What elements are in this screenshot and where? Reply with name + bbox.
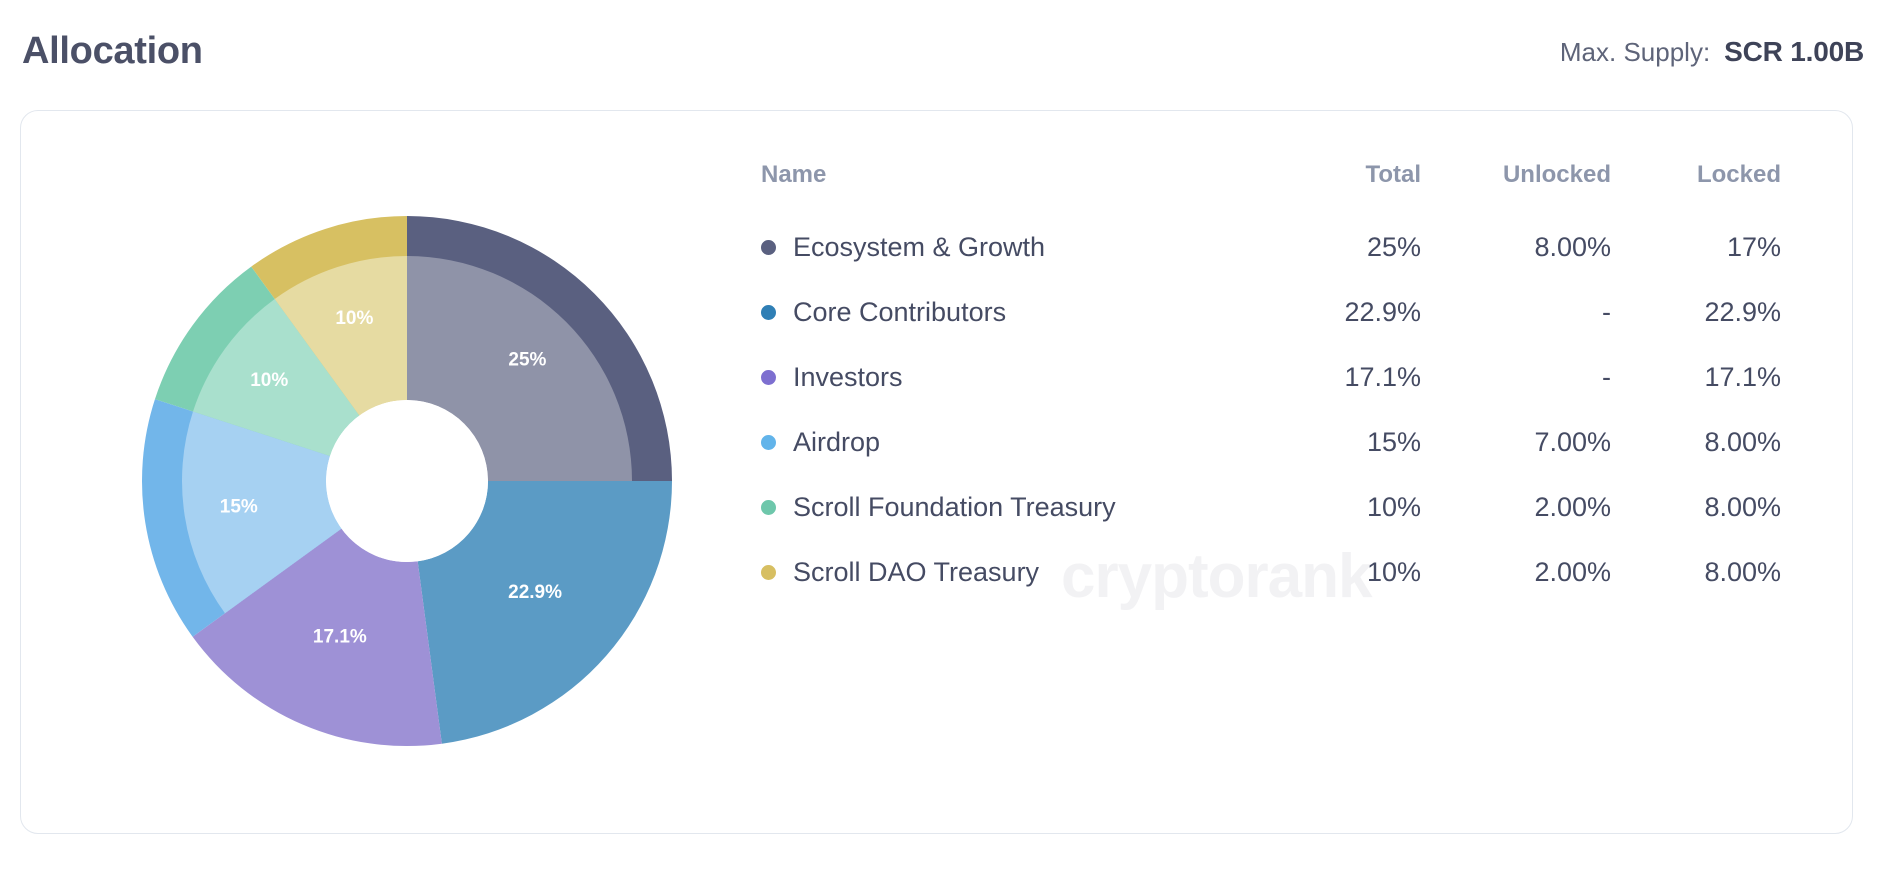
donut-slice-label: 10% bbox=[335, 308, 373, 329]
cell-total: 22.9% bbox=[1241, 280, 1421, 345]
cell-locked: 8.00% bbox=[1611, 540, 1781, 605]
cell-total: 25% bbox=[1241, 215, 1421, 280]
cell-name: Scroll DAO Treasury bbox=[761, 540, 1241, 605]
name-cell: Ecosystem & Growth bbox=[761, 233, 1241, 263]
cell-total: 10% bbox=[1241, 540, 1421, 605]
name-cell: Airdrop bbox=[761, 428, 1241, 458]
column-header-unlocked[interactable]: Unlocked bbox=[1421, 161, 1611, 215]
max-supply: Max. Supply: SCR 1.00B bbox=[1560, 28, 1870, 68]
cell-name: Airdrop bbox=[761, 410, 1241, 475]
allocation-name: Core Contributors bbox=[793, 298, 1006, 328]
allocation-table: Name Total Unlocked Locked Ecosystem & G… bbox=[761, 161, 1781, 605]
table-body: Ecosystem & Growth25%8.00%17%Core Contri… bbox=[761, 215, 1781, 605]
column-header-total[interactable]: Total bbox=[1241, 161, 1421, 215]
allocation-page: Allocation Max. Supply: SCR 1.00B crypto… bbox=[0, 0, 1892, 874]
cell-total: 10% bbox=[1241, 475, 1421, 540]
column-header-locked[interactable]: Locked bbox=[1611, 161, 1781, 215]
table-row[interactable]: Ecosystem & Growth25%8.00%17% bbox=[761, 215, 1781, 280]
cell-unlocked: - bbox=[1421, 345, 1611, 410]
donut-hole bbox=[326, 400, 488, 562]
table-row[interactable]: Scroll Foundation Treasury10%2.00%8.00% bbox=[761, 475, 1781, 540]
name-cell: Investors bbox=[761, 363, 1241, 393]
cell-unlocked: - bbox=[1421, 280, 1611, 345]
cell-unlocked: 2.00% bbox=[1421, 475, 1611, 540]
allocation-name: Ecosystem & Growth bbox=[793, 233, 1045, 263]
cell-unlocked: 2.00% bbox=[1421, 540, 1611, 605]
table-row[interactable]: Core Contributors22.9%-22.9% bbox=[761, 280, 1781, 345]
donut-slice-label: 15% bbox=[220, 497, 258, 518]
name-cell: Scroll DAO Treasury bbox=[761, 558, 1241, 588]
donut-slice-label: 22.9% bbox=[508, 582, 562, 603]
cell-total: 15% bbox=[1241, 410, 1421, 475]
max-supply-value: SCR 1.00B bbox=[1724, 36, 1864, 68]
allocation-name: Airdrop bbox=[793, 428, 880, 458]
table-row[interactable]: Investors17.1%-17.1% bbox=[761, 345, 1781, 410]
legend-dot-icon bbox=[761, 500, 776, 515]
table-row[interactable]: Airdrop15%7.00%8.00% bbox=[761, 410, 1781, 475]
donut-slice-label: 17.1% bbox=[313, 627, 367, 648]
allocation-name: Scroll Foundation Treasury bbox=[793, 493, 1116, 523]
cell-name: Ecosystem & Growth bbox=[761, 215, 1241, 280]
legend-dot-icon bbox=[761, 305, 776, 320]
table-header-row: Name Total Unlocked Locked bbox=[761, 161, 1781, 215]
page-header: Allocation Max. Supply: SCR 1.00B bbox=[0, 0, 1892, 96]
donut-slice-label: 10% bbox=[250, 370, 288, 391]
max-supply-label: Max. Supply: bbox=[1560, 37, 1710, 68]
cell-name: Core Contributors bbox=[761, 280, 1241, 345]
allocation-name: Scroll DAO Treasury bbox=[793, 558, 1039, 588]
cell-locked: 8.00% bbox=[1611, 410, 1781, 475]
legend-dot-icon bbox=[761, 370, 776, 385]
donut-svg: 25%22.9%17.1%15%10%10% bbox=[121, 201, 701, 761]
cell-unlocked: 7.00% bbox=[1421, 410, 1611, 475]
cell-unlocked: 8.00% bbox=[1421, 215, 1611, 280]
allocation-name: Investors bbox=[793, 363, 903, 393]
table-header: Name Total Unlocked Locked bbox=[761, 161, 1781, 215]
cell-name: Scroll Foundation Treasury bbox=[761, 475, 1241, 540]
donut-slice-label: 25% bbox=[508, 350, 546, 371]
cell-locked: 22.9% bbox=[1611, 280, 1781, 345]
name-cell: Core Contributors bbox=[761, 298, 1241, 328]
table-row[interactable]: Scroll DAO Treasury10%2.00%8.00% bbox=[761, 540, 1781, 605]
allocation-table-wrap: Name Total Unlocked Locked Ecosystem & G… bbox=[761, 161, 1781, 605]
allocation-donut-chart: 25%22.9%17.1%15%10%10% bbox=[121, 201, 701, 761]
cell-locked: 17.1% bbox=[1611, 345, 1781, 410]
name-cell: Scroll Foundation Treasury bbox=[761, 493, 1241, 523]
allocation-card: cryptorank 25%22.9%17.1%15%10%10% Name T… bbox=[20, 110, 1853, 834]
legend-dot-icon bbox=[761, 240, 776, 255]
cell-total: 17.1% bbox=[1241, 345, 1421, 410]
cell-name: Investors bbox=[761, 345, 1241, 410]
page-title: Allocation bbox=[22, 26, 203, 70]
legend-dot-icon bbox=[761, 435, 776, 450]
column-header-name[interactable]: Name bbox=[761, 161, 1241, 215]
cell-locked: 8.00% bbox=[1611, 475, 1781, 540]
legend-dot-icon bbox=[761, 565, 776, 580]
cell-locked: 17% bbox=[1611, 215, 1781, 280]
